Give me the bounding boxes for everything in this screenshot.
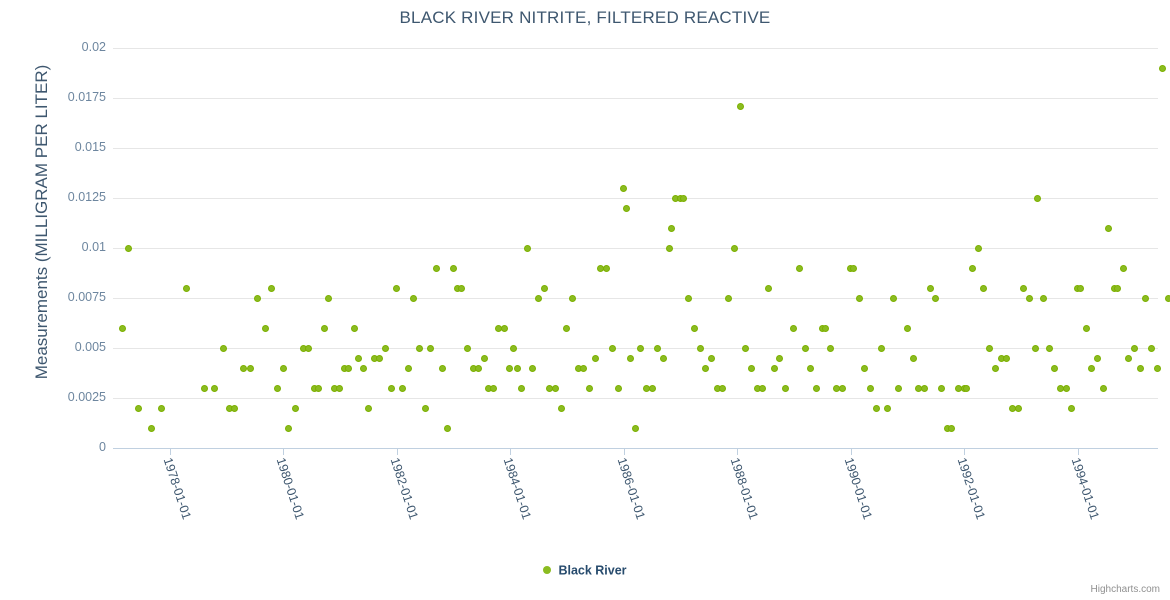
data-point[interactable] [439, 365, 446, 372]
y-axis-tick-labels: 0.020.01750.0150.01250.010.00750.0050.00… [36, 48, 106, 448]
data-point[interactable] [458, 285, 465, 292]
data-point[interactable] [325, 295, 332, 302]
data-point[interactable] [697, 345, 704, 352]
data-point[interactable] [861, 365, 868, 372]
data-point[interactable] [1020, 285, 1027, 292]
data-point[interactable] [878, 345, 885, 352]
data-point[interactable] [884, 405, 891, 412]
gridline [113, 248, 1158, 249]
data-point[interactable] [850, 265, 857, 272]
data-point[interactable] [620, 185, 627, 192]
data-point[interactable] [1051, 365, 1058, 372]
data-point[interactable] [563, 325, 570, 332]
data-point[interactable] [1105, 225, 1112, 232]
data-point[interactable] [1159, 65, 1166, 72]
data-point[interactable] [748, 365, 755, 372]
data-point[interactable] [274, 385, 281, 392]
data-point[interactable] [765, 285, 772, 292]
data-point[interactable] [890, 295, 897, 302]
data-point[interactable] [1046, 345, 1053, 352]
legend-item-label: Black River [558, 564, 626, 578]
data-point[interactable] [759, 385, 766, 392]
data-point[interactable] [405, 365, 412, 372]
data-point[interactable] [444, 425, 451, 432]
x-axis-tick-label: 1980-01-01 [274, 456, 307, 521]
gridline [113, 348, 1158, 349]
data-point[interactable] [1142, 295, 1149, 302]
x-axis-tick-mark [851, 449, 852, 455]
data-point[interactable] [280, 365, 287, 372]
data-point[interactable] [969, 265, 976, 272]
data-point[interactable] [433, 265, 440, 272]
data-point[interactable] [393, 285, 400, 292]
data-point[interactable] [388, 385, 395, 392]
data-point[interactable] [247, 365, 254, 372]
data-point[interactable] [948, 425, 955, 432]
x-axis-tick-label: 1992-01-01 [955, 456, 988, 521]
x-axis-tick-mark [737, 449, 738, 455]
chart-legend: Black River [0, 563, 1170, 578]
x-axis-line [113, 448, 1158, 449]
data-point[interactable] [660, 355, 667, 362]
data-point[interactable] [1100, 385, 1107, 392]
data-point[interactable] [201, 385, 208, 392]
data-point[interactable] [1063, 385, 1070, 392]
credits-label: Highcharts.com [1091, 584, 1160, 595]
x-axis-tick-label: 1982-01-01 [387, 456, 420, 521]
data-point[interactable] [719, 385, 726, 392]
data-point[interactable] [183, 285, 190, 292]
data-point[interactable] [1083, 325, 1090, 332]
data-point[interactable] [580, 365, 587, 372]
data-point[interactable] [680, 195, 687, 202]
data-point[interactable] [904, 325, 911, 332]
y-axis-tick-label: 0.0175 [42, 90, 106, 104]
data-point[interactable] [506, 365, 513, 372]
data-point[interactable] [623, 205, 630, 212]
data-point[interactable] [963, 385, 970, 392]
data-point[interactable] [807, 365, 814, 372]
chart-title: BLACK RIVER NITRITE, FILTERED REACTIVE [0, 8, 1170, 28]
data-point[interactable] [262, 325, 269, 332]
legend-item-black-river[interactable]: Black River [543, 563, 626, 578]
data-point[interactable] [627, 355, 634, 362]
y-axis-tick-label: 0.02 [42, 40, 106, 54]
plot-area [113, 48, 1158, 448]
data-point[interactable] [776, 355, 783, 362]
data-point[interactable] [708, 355, 715, 362]
data-point[interactable] [382, 345, 389, 352]
data-point[interactable] [910, 355, 917, 362]
data-point[interactable] [609, 345, 616, 352]
data-point[interactable] [450, 265, 457, 272]
data-point[interactable] [336, 385, 343, 392]
data-point[interactable] [1154, 365, 1161, 372]
data-point[interactable] [514, 365, 521, 372]
data-point[interactable] [856, 295, 863, 302]
x-axis-tick-label: 1994-01-01 [1068, 456, 1101, 521]
data-point[interactable] [867, 385, 874, 392]
y-axis-tick-label: 0.005 [42, 340, 106, 354]
data-point[interactable] [240, 365, 247, 372]
data-point[interactable] [158, 405, 165, 412]
data-point[interactable] [541, 285, 548, 292]
x-axis-tick-label: 1978-01-01 [160, 456, 193, 521]
gridline [113, 48, 1158, 49]
data-point[interactable] [475, 365, 482, 372]
data-point[interactable] [938, 385, 945, 392]
data-point[interactable] [410, 295, 417, 302]
data-point[interactable] [827, 345, 834, 352]
y-axis-tick-label: 0.0125 [42, 190, 106, 204]
data-point[interactable] [510, 345, 517, 352]
chart-container: BLACK RIVER NITRITE, FILTERED REACTIVE M… [0, 0, 1170, 600]
data-point[interactable] [725, 295, 732, 302]
y-axis-tick-label: 0.01 [42, 240, 106, 254]
data-point[interactable] [422, 405, 429, 412]
data-point[interactable] [315, 385, 322, 392]
data-point[interactable] [1034, 195, 1041, 202]
data-point[interactable] [1040, 295, 1047, 302]
data-point[interactable] [731, 245, 738, 252]
gridline [113, 198, 1158, 199]
data-point[interactable] [321, 325, 328, 332]
data-point[interactable] [802, 345, 809, 352]
data-point[interactable] [1032, 345, 1039, 352]
data-point[interactable] [1148, 345, 1155, 352]
data-point[interactable] [737, 103, 744, 110]
data-point[interactable] [231, 405, 238, 412]
data-point[interactable] [1125, 355, 1132, 362]
data-point[interactable] [822, 325, 829, 332]
data-point[interactable] [790, 325, 797, 332]
data-point[interactable] [1015, 405, 1022, 412]
y-axis-tick-label: 0.015 [42, 140, 106, 154]
data-point[interactable] [813, 385, 820, 392]
y-axis-tick-label: 0.0075 [42, 290, 106, 304]
gridline [113, 98, 1158, 99]
data-point[interactable] [399, 385, 406, 392]
data-point[interactable] [771, 365, 778, 372]
data-point[interactable] [1137, 365, 1144, 372]
data-point[interactable] [796, 265, 803, 272]
data-point[interactable] [742, 345, 749, 352]
data-point[interactable] [501, 325, 508, 332]
data-point[interactable] [637, 345, 644, 352]
data-point[interactable] [211, 385, 218, 392]
x-axis-tick-label: 1984-01-01 [501, 456, 534, 521]
data-point[interactable] [464, 345, 471, 352]
x-axis-tick-mark [964, 449, 965, 455]
data-point[interactable] [148, 425, 155, 432]
data-point[interactable] [666, 245, 673, 252]
data-point[interactable] [932, 295, 939, 302]
data-point[interactable] [305, 345, 312, 352]
data-point[interactable] [254, 295, 261, 302]
data-point[interactable] [980, 285, 987, 292]
data-point[interactable] [351, 325, 358, 332]
x-axis-tick-mark [510, 449, 511, 455]
data-point[interactable] [376, 355, 383, 362]
data-point[interactable] [416, 345, 423, 352]
data-point[interactable] [654, 345, 661, 352]
data-point[interactable] [1131, 345, 1138, 352]
data-point[interactable] [839, 385, 846, 392]
data-point[interactable] [632, 425, 639, 432]
data-point[interactable] [691, 325, 698, 332]
data-point[interactable] [1003, 355, 1010, 362]
data-point[interactable] [220, 345, 227, 352]
legend-marker-icon [543, 566, 551, 574]
data-point[interactable] [685, 295, 692, 302]
data-point[interactable] [345, 365, 352, 372]
x-axis-tick-mark [624, 449, 625, 455]
data-point[interactable] [992, 365, 999, 372]
data-point[interactable] [615, 385, 622, 392]
data-point[interactable] [1077, 285, 1084, 292]
x-axis-tick-mark [170, 449, 171, 455]
data-point[interactable] [1094, 355, 1101, 362]
data-point[interactable] [529, 365, 536, 372]
data-point[interactable] [895, 385, 902, 392]
data-point[interactable] [1165, 295, 1170, 302]
data-point[interactable] [552, 385, 559, 392]
data-point[interactable] [975, 245, 982, 252]
data-point[interactable] [1120, 265, 1127, 272]
data-point[interactable] [125, 245, 132, 252]
data-point[interactable] [569, 295, 576, 302]
data-point[interactable] [292, 405, 299, 412]
data-point[interactable] [355, 355, 362, 362]
data-point[interactable] [873, 405, 880, 412]
data-point[interactable] [1026, 295, 1033, 302]
data-point[interactable] [135, 405, 142, 412]
x-axis-tick-mark [283, 449, 284, 455]
data-point[interactable] [927, 285, 934, 292]
data-point[interactable] [285, 425, 292, 432]
data-point[interactable] [360, 365, 367, 372]
data-point[interactable] [649, 385, 656, 392]
data-point[interactable] [1068, 405, 1075, 412]
data-point[interactable] [518, 385, 525, 392]
data-point[interactable] [782, 385, 789, 392]
data-point[interactable] [921, 385, 928, 392]
x-axis-tick-label: 1988-01-01 [728, 456, 761, 521]
x-axis-tick-mark [1078, 449, 1079, 455]
gridline [113, 298, 1158, 299]
data-point[interactable] [1088, 365, 1095, 372]
data-point[interactable] [986, 345, 993, 352]
gridline [113, 398, 1158, 399]
data-point[interactable] [702, 365, 709, 372]
data-point[interactable] [268, 285, 275, 292]
data-point[interactable] [535, 295, 542, 302]
data-point[interactable] [490, 385, 497, 392]
y-axis-tick-label: 0 [42, 440, 106, 454]
x-axis-tick-label: 1986-01-01 [614, 456, 647, 521]
data-point[interactable] [603, 265, 610, 272]
y-axis-tick-label: 0.0025 [42, 390, 106, 404]
data-point[interactable] [592, 355, 599, 362]
data-point[interactable] [586, 385, 593, 392]
data-point[interactable] [481, 355, 488, 362]
gridline [113, 148, 1158, 149]
data-point[interactable] [427, 345, 434, 352]
data-point[interactable] [119, 325, 126, 332]
x-axis-tick-label: 1990-01-01 [841, 456, 874, 521]
x-axis-tick-mark [397, 449, 398, 455]
data-point[interactable] [668, 225, 675, 232]
data-point[interactable] [1114, 285, 1121, 292]
data-point[interactable] [365, 405, 372, 412]
data-point[interactable] [524, 245, 531, 252]
data-point[interactable] [558, 405, 565, 412]
